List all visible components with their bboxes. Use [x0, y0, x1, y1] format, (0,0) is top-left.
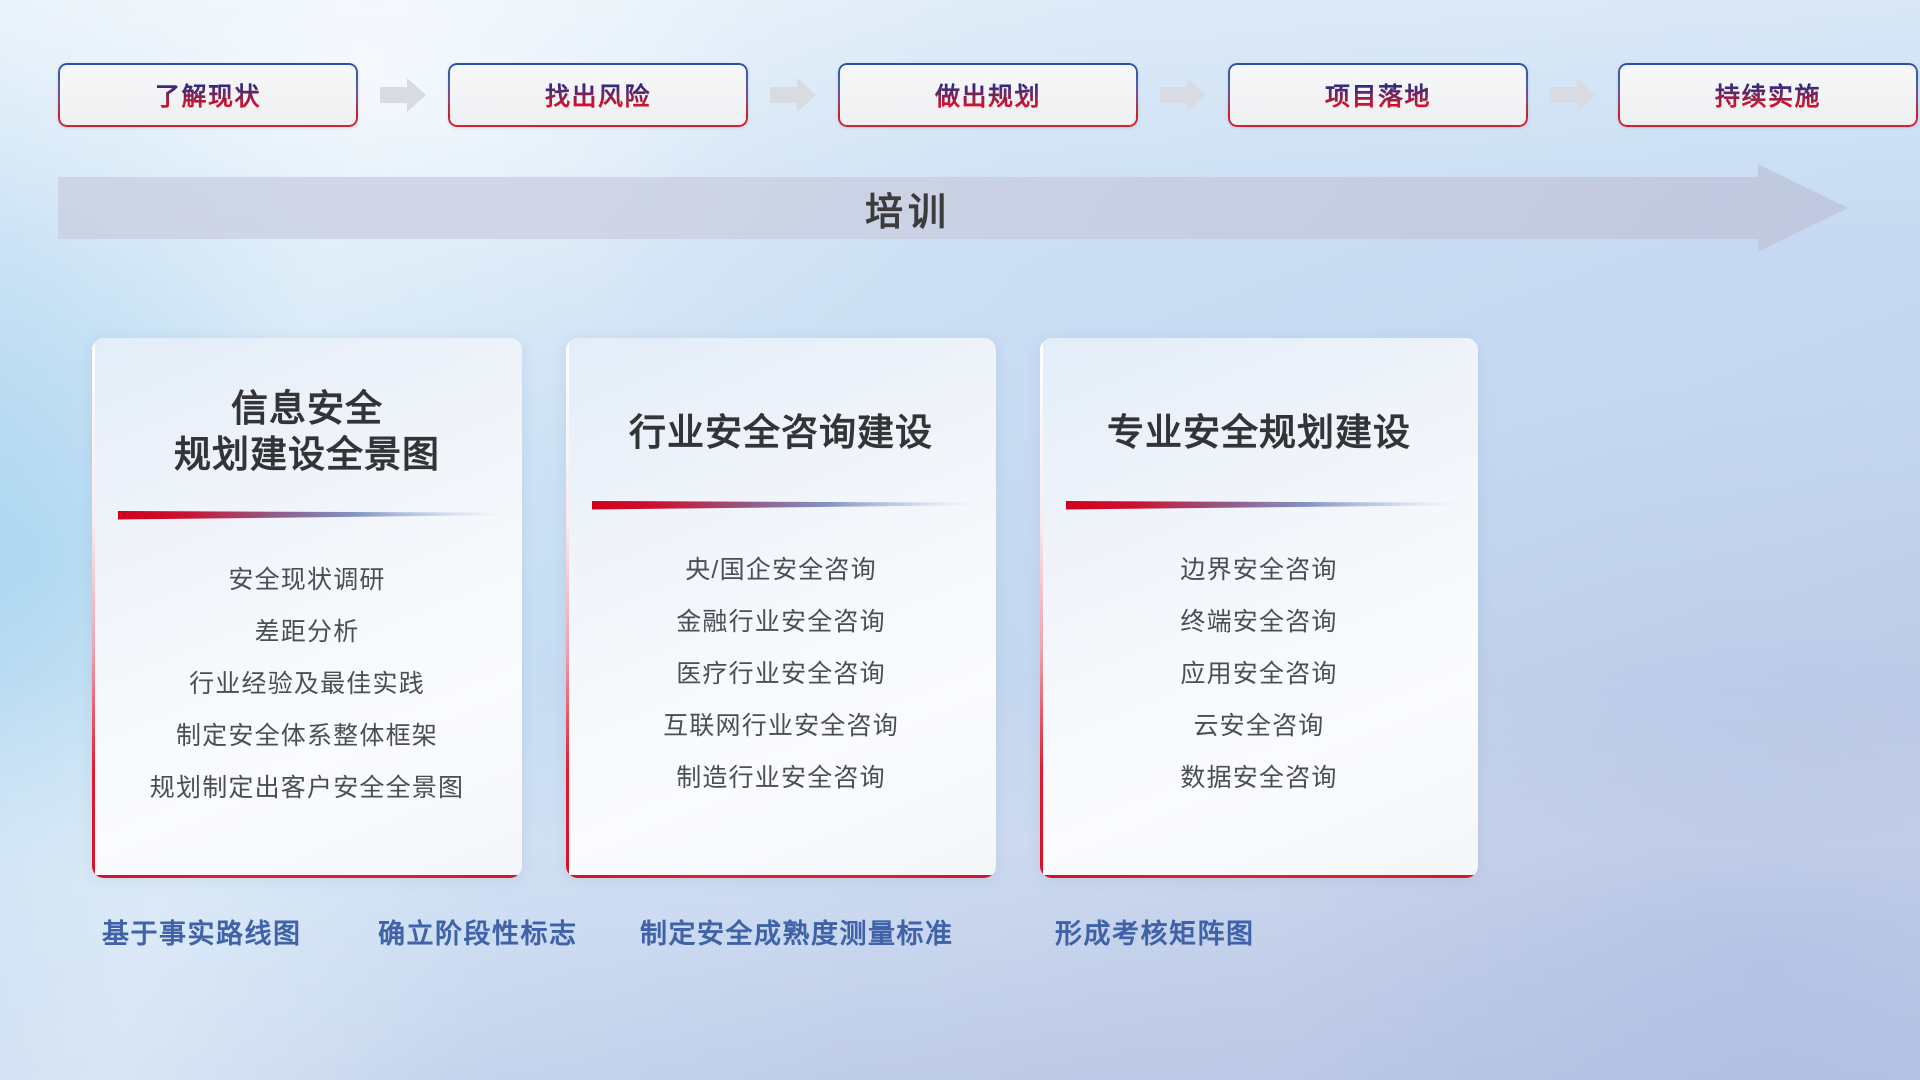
- bottom-label-3: 制定安全成熟度测量标准: [640, 912, 954, 951]
- step-box-3[interactable]: 做出规划: [838, 63, 1138, 127]
- card-professional-security-planning[interactable]: 专业安全规划建设: [1040, 338, 1478, 878]
- slide-canvas: 了解现状 找出风险 做出规划 项目落地: [0, 0, 1920, 1080]
- step-box-5[interactable]: 持续实施: [1618, 63, 1918, 127]
- card-3-divider: [1062, 498, 1456, 512]
- bottom-label-4: 形成考核矩阵图: [1055, 912, 1255, 951]
- card-3-item-list: 边界安全咨询 终端安全咨询 应用安全咨询 云安全咨询 数据安全咨询: [1040, 558, 1478, 818]
- card-1-title: 信息安全 规划建设全景图: [92, 386, 522, 478]
- card-3-title: 专业安全规划建设: [1040, 410, 1478, 456]
- step-label-3: 做出规划: [935, 77, 1041, 113]
- card-row: 信息安全 规划建设全景图: [0, 338, 1920, 878]
- training-banner-arrow: 培训: [58, 164, 1848, 252]
- list-item: 行业经验及最佳实践: [92, 672, 522, 697]
- bottom-label-1: 基于事实路线图: [102, 912, 302, 951]
- card-2-item-list: 央/国企安全咨询 金融行业安全咨询 医疗行业安全咨询 互联网行业安全咨询 制造行…: [566, 558, 996, 818]
- card-1-divider: [114, 508, 500, 522]
- card-3-title-line1: 专业安全规划建设: [1054, 410, 1464, 456]
- list-item: 云安全咨询: [1040, 714, 1478, 739]
- bottom-label-row: 基于事实路线图 确立阶段性标志 制定安全成熟度测量标准 形成考核矩阵图: [0, 912, 1920, 964]
- list-item: 制定安全体系整体框架: [92, 724, 522, 749]
- step-label-1: 了解现状: [155, 77, 261, 113]
- step-label-5: 持续实施: [1715, 77, 1821, 113]
- process-step-row: 了解现状 找出风险 做出规划 项目落地: [58, 62, 1870, 128]
- card-2-title: 行业安全咨询建设: [566, 410, 996, 456]
- list-item: 差距分析: [92, 620, 522, 645]
- list-item: 金融行业安全咨询: [566, 610, 996, 635]
- card-1-title-line2: 规划建设全景图: [106, 432, 508, 478]
- step-label-4: 项目落地: [1325, 77, 1431, 113]
- step-chevron-icon-1: [380, 78, 426, 112]
- banner-title: 培训: [58, 164, 1758, 252]
- step-box-1[interactable]: 了解现状: [58, 63, 358, 127]
- list-item: 数据安全咨询: [1040, 766, 1478, 791]
- card-1-title-line1: 信息安全: [106, 386, 508, 432]
- card-information-security-blueprint[interactable]: 信息安全 规划建设全景图: [92, 338, 522, 878]
- step-box-2[interactable]: 找出风险: [448, 63, 748, 127]
- step-chevron-icon-3: [1160, 78, 1206, 112]
- list-item: 互联网行业安全咨询: [566, 714, 996, 739]
- step-box-4[interactable]: 项目落地: [1228, 63, 1528, 127]
- step-chevron-icon-4: [1550, 78, 1596, 112]
- card-industry-security-consulting[interactable]: 行业安全咨询建设: [566, 338, 996, 878]
- list-item: 终端安全咨询: [1040, 610, 1478, 635]
- list-item: 应用安全咨询: [1040, 662, 1478, 687]
- step-chevron-icon-2: [770, 78, 816, 112]
- list-item: 制造行业安全咨询: [566, 766, 996, 791]
- bottom-label-2: 确立阶段性标志: [378, 912, 578, 951]
- list-item: 规划制定出客户安全全景图: [92, 776, 522, 801]
- list-item: 央/国企安全咨询: [566, 558, 996, 583]
- card-2-divider: [588, 498, 974, 512]
- card-1-item-list: 安全现状调研 差距分析 行业经验及最佳实践 制定安全体系整体框架 规划制定出客户…: [92, 568, 522, 828]
- list-item: 安全现状调研: [92, 568, 522, 593]
- card-2-title-line1: 行业安全咨询建设: [580, 410, 982, 456]
- list-item: 边界安全咨询: [1040, 558, 1478, 583]
- list-item: 医疗行业安全咨询: [566, 662, 996, 687]
- step-label-2: 找出风险: [545, 77, 651, 113]
